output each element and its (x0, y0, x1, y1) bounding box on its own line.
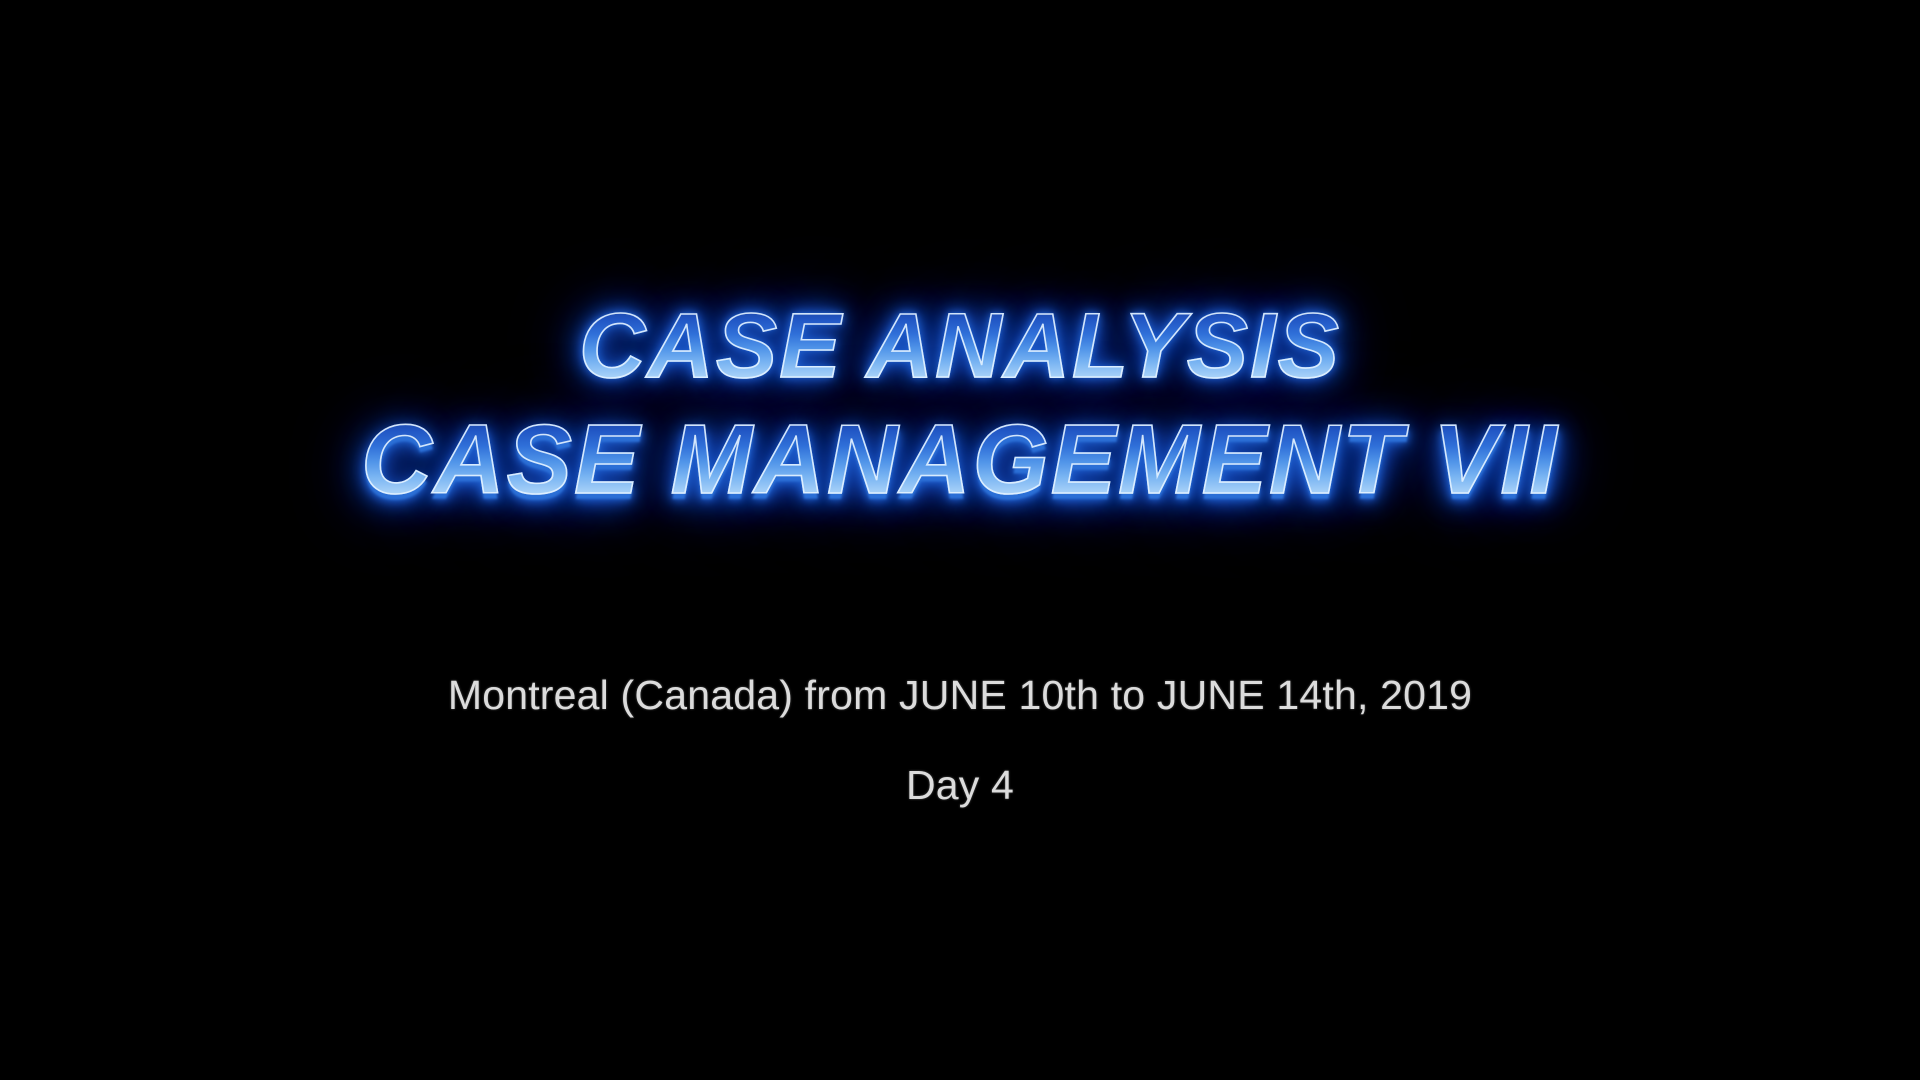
subtitle-day: Day 4 (0, 762, 1920, 809)
title-block: CASE ANALYSIS CASE ANALYSIS CASE MANAGEM… (0, 300, 1920, 522)
subtitle-block: Montreal (Canada) from JUNE 10th to JUNE… (0, 672, 1920, 809)
title-line-2-text: CASE MANAGEMENT VII (361, 404, 1559, 514)
subtitle-location-dates: Montreal (Canada) from JUNE 10th to JUNE… (0, 672, 1920, 719)
title-slide: CASE ANALYSIS CASE ANALYSIS CASE MANAGEM… (0, 0, 1920, 1080)
title-line-1-text: CASE ANALYSIS (579, 295, 1341, 397)
title-line-1: CASE ANALYSIS CASE ANALYSIS (0, 300, 1920, 404)
title-line-2: CASE MANAGEMENT VII CASE MANAGEMENT VII (0, 410, 1920, 522)
